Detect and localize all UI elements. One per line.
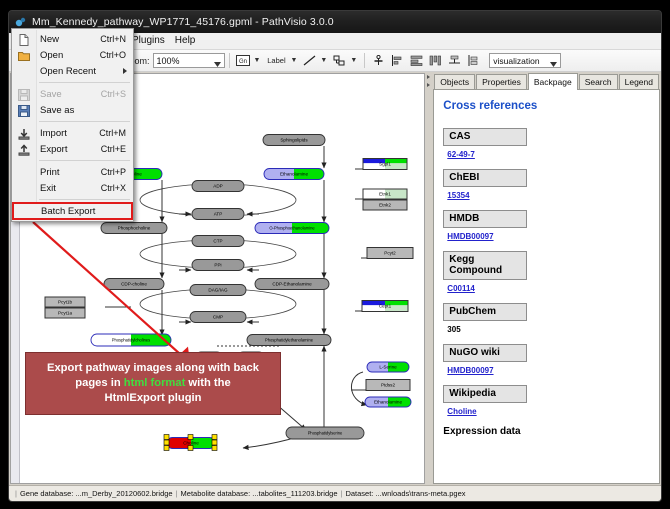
pathway-gene-pcyt1a[interactable]: Pcyt1a — [45, 308, 85, 318]
svg-text:Gn: Gn — [239, 59, 247, 65]
menu-help[interactable]: Help — [170, 33, 201, 49]
pathway-gene-sgpl1[interactable]: Sgpl1 — [363, 159, 407, 170]
file-menu-item-new[interactable]: NewCtrl+N — [12, 31, 133, 47]
screenshot-root: Mm_Kennedy_pathway_WP1771_45176.gpml - P… — [0, 0, 670, 509]
cross-reference-entry: WikipediaCholine — [443, 385, 650, 416]
gene-db-value: ...m_Derby_20120602.bridge — [75, 489, 172, 498]
align-rows-icon[interactable] — [408, 52, 425, 69]
pathway-node-dag-iag[interactable]: DAG/IAG — [190, 285, 246, 296]
save-as-icon — [17, 104, 30, 117]
menu-item-label: Export — [40, 144, 67, 155]
pathway-node-ethanolamine-bottom[interactable]: Ethanolamine — [365, 397, 411, 407]
pathway-node-phosphatidylserine[interactable]: Phosphatidylserine — [286, 427, 364, 439]
menu-item-label: Open — [40, 50, 63, 61]
cross-reference-entry: HMDBHMDB00097 — [443, 210, 650, 241]
pathway-node-label: L-Serine — [379, 365, 397, 370]
pathway-gene-etnk1[interactable]: Etnk1 — [363, 189, 407, 199]
cross-reference-link[interactable]: 15354 — [447, 191, 469, 200]
pathway-node-label: Choline — [183, 441, 199, 446]
tab-backpage[interactable]: Backpage — [528, 73, 578, 90]
tab-legend[interactable]: Legend — [619, 74, 659, 89]
label-button-text: Label — [267, 56, 285, 65]
menu-item-shortcut: Ctrl+N — [100, 34, 126, 44]
menu-item-label: Batch Export — [41, 206, 95, 217]
menu-item-label: Print — [40, 167, 60, 178]
pathway-node-phosphatidylcholines[interactable]: Phosphatidylcholines — [91, 334, 171, 346]
stack-icon[interactable] — [446, 52, 463, 69]
cross-reference-value[interactable]: 15354 — [443, 187, 650, 200]
pathway-gene-label: Ptdss2 — [381, 383, 395, 388]
new-file-icon — [17, 33, 30, 46]
cross-reference-value[interactable]: HMDB00097 — [443, 362, 650, 375]
submenu-arrow-icon — [123, 68, 127, 74]
pathway-gene-pcyt1b[interactable]: Pcyt1b — [45, 297, 85, 307]
menu-separator — [39, 199, 130, 200]
menu-item-shortcut: Ctrl+S — [101, 89, 126, 99]
gene-db-label: Gene database: — [20, 489, 73, 498]
pathway-node-label: DAG/IAG — [208, 288, 228, 293]
label-button[interactable]: Label — [264, 52, 288, 69]
pathway-node-label: CDP-Ethanolamine — [272, 282, 312, 287]
pathway-node-ppi[interactable]: PPi — [192, 260, 244, 271]
pathway-node-label: Sphingolipids — [280, 138, 308, 143]
align-columns-icon[interactable] — [427, 52, 444, 69]
pathway-gene-label: Pcyt1b — [58, 300, 72, 305]
file-menu-item-open[interactable]: OpenCtrl+O — [12, 47, 133, 63]
export-icon — [17, 143, 30, 156]
toolbar-separator-2 — [364, 53, 365, 68]
shape-dropdown-arrow[interactable]: ▼ — [350, 57, 357, 64]
sidebar-tabstrip: Objects Properties Backpage Search Legen… — [426, 73, 660, 89]
label-dropdown-arrow[interactable]: ▼ — [290, 57, 297, 64]
cross-reference-link[interactable]: C00114 — [447, 284, 475, 293]
anchor-icon[interactable] — [370, 52, 387, 69]
cross-reference-entry: PubChem305 — [443, 303, 650, 334]
file-menu-item-save: SaveCtrl+S — [12, 86, 133, 102]
zoom-combobox[interactable]: 100% — [153, 53, 225, 68]
pathway-node-adp[interactable]: ADP — [192, 181, 244, 192]
pathway-node-label: CMP — [213, 315, 223, 320]
open-folder-icon — [17, 49, 30, 62]
cross-reference-link[interactable]: 62-49-7 — [447, 150, 475, 159]
file-menu-item-print[interactable]: PrintCtrl+P — [12, 164, 133, 180]
pathway-gene-label: Pcyt2 — [384, 251, 396, 256]
pathway-node-label: PPi — [214, 263, 221, 268]
expression-data-heading: Expression data — [443, 426, 650, 437]
pathway-node-label: O-Phosphoethanolamine — [269, 226, 315, 231]
pathway-gene-label: Etnk2 — [379, 203, 391, 208]
pathway-node-label: Ethanolamine — [374, 400, 403, 405]
menu-item-shortcut: Ctrl+O — [100, 50, 126, 60]
metabolite-db-value: ...tabolites_111203.bridge — [252, 489, 337, 498]
cross-reference-header: Wikipedia — [443, 385, 527, 403]
pathway-node-label: CDP-choline — [121, 282, 147, 287]
callout-line2-b: with the — [185, 377, 230, 389]
pathway-gene-label: Sgpl1 — [379, 162, 391, 167]
file-menu-item-export[interactable]: ExportCtrl+E — [12, 141, 133, 157]
pathway-node-phosphocholine[interactable]: Phosphocholine — [101, 223, 167, 234]
right-sidebar: Objects Properties Backpage Search Legen… — [426, 72, 661, 485]
visualization-value: visualization — [493, 56, 539, 66]
cross-reference-link[interactable]: HMDB00097 — [447, 232, 493, 241]
group-icon[interactable] — [465, 52, 482, 69]
cross-reference-entry: NuGO wikiHMDB00097 — [443, 344, 650, 375]
menu-separator — [39, 160, 130, 161]
menu-item-label: Exit — [40, 183, 56, 194]
callout-text: Export pathway images along with back pa… — [41, 361, 265, 406]
application-window: Mm_Kennedy_pathway_WP1771_45176.gpml - P… — [8, 10, 662, 502]
backpage-title: Cross references — [443, 100, 650, 112]
cross-reference-value[interactable]: Choline — [443, 403, 650, 416]
file-menu-item-import[interactable]: ImportCtrl+M — [12, 125, 133, 141]
cross-reference-value: 305 — [443, 321, 650, 334]
pathway-node-o-phosphoethanolamine[interactable]: O-Phosphoethanolamine — [255, 223, 329, 234]
shape-button[interactable] — [331, 52, 348, 69]
zoom-value: 100% — [157, 56, 180, 66]
menu-separator — [39, 121, 130, 122]
tab-properties[interactable]: Properties — [476, 74, 527, 89]
pathvisio-icon — [14, 16, 27, 29]
dataset-value: ...wnloads\trans-meta.pgex — [375, 489, 465, 498]
pathway-node-label: Phosphatidylcholines — [112, 338, 150, 343]
cross-reference-link[interactable]: HMDB00097 — [447, 366, 493, 375]
callout-line3: HtmlExport plugin — [105, 392, 202, 404]
pathway-node-label: Phosphocholine — [118, 226, 151, 231]
datanode-button[interactable]: Gn — [235, 52, 252, 69]
pathway-node-choline-selected[interactable]: Choline — [164, 435, 217, 451]
cross-reference-header: CAS — [443, 128, 527, 146]
pathway-node-label: ADP — [213, 184, 222, 189]
chevron-down-icon-2 — [550, 59, 557, 69]
cross-reference-link[interactable]: Choline — [447, 407, 476, 416]
pathway-node-label: Ethanolamine — [280, 172, 309, 177]
pathway-node-ctp[interactable]: CTP — [192, 236, 244, 247]
menu-item-label: Open Recent — [40, 66, 96, 77]
tab-objects[interactable]: Objects — [434, 74, 475, 89]
status-bar: | Gene database: ...m_Derby_20120602.bri… — [9, 485, 661, 501]
cross-reference-header: ChEBI — [443, 169, 527, 187]
callout-line2-highlight: html format — [124, 377, 186, 389]
cross-reference-header: NuGO wiki — [443, 344, 527, 362]
line-dropdown-arrow[interactable]: ▼ — [320, 57, 327, 64]
callout-line1: Export pathway images along with back — [47, 362, 259, 374]
status-sep-2: | — [337, 489, 345, 498]
pathway-node-label: Phosphatidylserine — [308, 431, 343, 436]
menu-item-label: Save — [40, 89, 62, 100]
pathway-gene-pcyt2[interactable]: Pcyt2 — [367, 248, 413, 259]
tab-search[interactable]: Search — [579, 74, 618, 89]
pathway-node-cdp-choline[interactable]: CDP-choline — [104, 279, 164, 290]
pathway-gene-cept1[interactable]: Cept1 — [362, 301, 408, 312]
menu-item-shortcut: Ctrl+X — [101, 183, 126, 193]
save-icon — [17, 88, 30, 101]
cross-reference-entry: CAS62-49-7 — [443, 128, 650, 159]
cross-reference-value[interactable]: 62-49-7 — [443, 146, 650, 159]
menu-separator — [39, 82, 130, 83]
cross-reference-value[interactable]: C00114 — [443, 280, 650, 293]
pathway-node-cmp[interactable]: CMP — [190, 312, 246, 323]
file-menu-dropdown[interactable]: NewCtrl+NOpenCtrl+OOpen RecentSaveCtrl+S… — [11, 28, 134, 222]
pathway-gene-ptdss2[interactable]: Ptdss2 — [366, 380, 410, 391]
annotation-callout: Export pathway images along with back pa… — [25, 352, 281, 415]
dataset-label: Dataset: — [345, 489, 373, 498]
pathway-gene-label: Pcyt1a — [58, 311, 72, 316]
status-sep-1: | — [173, 489, 181, 498]
menu-item-label: New — [40, 34, 59, 45]
file-menu-item-batch-export[interactable]: Batch Export — [13, 203, 132, 219]
pathway-gene-label: Etnk1 — [379, 192, 391, 197]
cross-reference-entry: Kegg CompoundC00114 — [443, 251, 650, 293]
chevron-down-icon — [214, 59, 221, 69]
align-left-icon[interactable] — [389, 52, 406, 69]
pathway-node-label: CTP — [213, 239, 222, 244]
callout-line2-a: pages in — [75, 377, 124, 389]
pathway-node-phosphatidylethanolamine[interactable]: Phosphatidylethanolamine — [247, 335, 331, 346]
toolbar-separator — [229, 53, 230, 68]
menu-item-shortcut: Ctrl+M — [99, 128, 126, 138]
pathway-node-ethanolamine-top[interactable]: Ethanolamine — [264, 169, 324, 180]
pathway-node-label: ATP — [214, 212, 223, 217]
file-menu-item-exit[interactable]: ExitCtrl+X — [12, 180, 133, 196]
menu-item-shortcut: Ctrl+P — [101, 167, 126, 177]
cross-reference-value[interactable]: HMDB00097 — [443, 228, 650, 241]
menu-item-label: Import — [40, 128, 67, 139]
tabstrip-scroll-arrows[interactable] — [427, 75, 432, 87]
datanode-dropdown-arrow[interactable]: ▼ — [254, 57, 261, 64]
cross-reference-header: Kegg Compound — [443, 251, 527, 280]
file-menu-item-save-as[interactable]: Save as — [12, 102, 133, 118]
cross-reference-header: PubChem — [443, 303, 527, 321]
pathway-node-atp[interactable]: ATP — [192, 209, 244, 220]
pathway-node-cdp-ethanolamine[interactable]: CDP-Ethanolamine — [255, 279, 329, 290]
pathway-gene-label: Cept1 — [379, 304, 392, 309]
cross-reference-entry: ChEBI15354 — [443, 169, 650, 200]
menu-item-label: Save as — [40, 105, 74, 116]
visualization-combobox[interactable]: visualization — [489, 53, 561, 68]
window-title: Mm_Kennedy_pathway_WP1771_45176.gpml - P… — [32, 16, 334, 28]
menu-item-shortcut: Ctrl+E — [101, 144, 126, 154]
pathway-gene-etnk2[interactable]: Etnk2 — [363, 200, 407, 210]
cross-reference-header: HMDB — [443, 210, 527, 228]
status-sep-0: | — [12, 489, 20, 498]
cross-reference-list: CAS62-49-7ChEBI15354HMDBHMDB00097Kegg Co… — [443, 128, 650, 416]
metabolite-db-label: Metabolite database: — [181, 489, 251, 498]
backpage-panel: Cross references CAS62-49-7ChEBI15354HMD… — [433, 89, 660, 484]
pathway-node-label: Phosphatidylethanolamine — [265, 338, 314, 343]
pathway-node-l-serine[interactable]: L-Serine — [367, 362, 409, 372]
import-icon — [17, 127, 30, 140]
file-menu-item-open-recent[interactable]: Open Recent — [12, 63, 133, 79]
line-button[interactable] — [301, 52, 318, 69]
pathway-node-sphingolipids[interactable]: Sphingolipids — [263, 135, 325, 146]
